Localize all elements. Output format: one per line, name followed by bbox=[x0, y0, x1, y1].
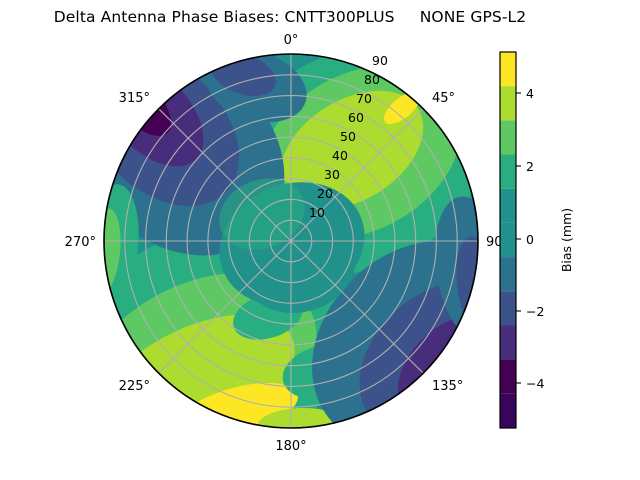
polar-contour-plot: 0° 45° 90 135° 180° 225° 270° 315° 10 20… bbox=[0, 0, 640, 480]
radial-label-50: 50 bbox=[340, 129, 356, 144]
angular-label-180: 180° bbox=[275, 439, 306, 454]
plot-area: 0° 45° 90 135° 180° 225° 270° 315° 10 20… bbox=[0, 0, 640, 480]
radial-label-40: 40 bbox=[332, 148, 348, 163]
angular-label-135: 135° bbox=[432, 379, 463, 394]
angular-label-315: 315° bbox=[119, 91, 150, 106]
colorbar-tick-2: 2 bbox=[526, 159, 534, 174]
radial-label-60: 60 bbox=[348, 110, 364, 125]
radial-label-10: 10 bbox=[309, 205, 325, 220]
radial-label-90: 90 bbox=[372, 53, 388, 68]
radial-label-70: 70 bbox=[356, 91, 372, 106]
colorbar-tick-4: 4 bbox=[526, 86, 534, 101]
angular-label-0: 0° bbox=[284, 33, 299, 48]
angular-label-270: 270° bbox=[65, 235, 96, 250]
colorbar: 4 2 0 −2 −4 Bias (mm) bbox=[500, 52, 574, 428]
colorbar-tick-0: 0 bbox=[526, 232, 534, 247]
angular-label-225: 225° bbox=[119, 379, 150, 394]
angular-label-45: 45° bbox=[432, 91, 455, 106]
colorbar-tick-m4: −4 bbox=[526, 376, 544, 391]
colorbar-bands bbox=[500, 52, 516, 428]
polar-grid bbox=[104, 54, 478, 428]
radial-label-30: 30 bbox=[324, 167, 340, 182]
colorbar-ticks bbox=[516, 93, 521, 383]
radial-label-20: 20 bbox=[317, 186, 333, 201]
colorbar-title: Bias (mm) bbox=[559, 208, 574, 272]
radial-label-80: 80 bbox=[364, 72, 380, 87]
colorbar-tick-m2: −2 bbox=[526, 304, 544, 319]
figure-root: Delta Antenna Phase Biases: CNTT300PLUS … bbox=[0, 0, 640, 480]
